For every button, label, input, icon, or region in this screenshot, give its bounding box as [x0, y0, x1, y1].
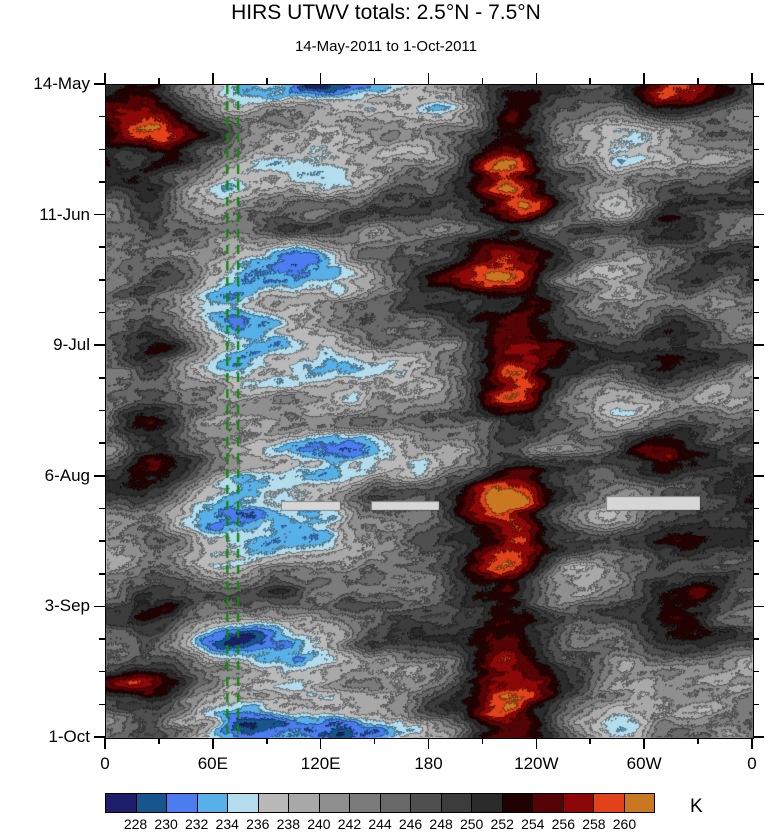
x-tick-minor-4 [589, 738, 591, 744]
page-title: HIRS UTWV totals: 2.5°N - 7.5°N [0, 0, 772, 26]
colorbar-swatch-17 [625, 794, 655, 812]
x-tick-major-2 [320, 738, 322, 749]
y-tick-minor-right-6 [753, 377, 759, 379]
y-tick-major-3 [94, 475, 105, 477]
page-subtitle: 14-May-2011 to 1-Oct-2011 [0, 38, 772, 56]
y-tick-minor-right-11 [753, 573, 759, 575]
colorbar-swatch-0 [106, 794, 137, 812]
colorbar-swatch-7 [320, 794, 351, 812]
colorbar-swatch-9 [381, 794, 412, 812]
y-tick-minor-13 [99, 671, 105, 673]
colorbar-swatch-8 [350, 794, 381, 812]
y-tick-minor-right-7 [753, 410, 759, 412]
x-tick-minor-3 [482, 738, 484, 744]
x-tick-major-6 [751, 738, 753, 749]
y-tick-major-right-1 [753, 214, 764, 216]
x-tick-label-2: 120E [276, 754, 366, 773]
x-tick-major-top-5 [643, 73, 645, 84]
y-tick-label-2: 9-Jul [4, 335, 90, 354]
y-tick-minor-11 [99, 573, 105, 575]
colorbar-swatch-15 [564, 794, 595, 812]
y-tick-minor-right-9 [753, 508, 759, 510]
y-tick-major-0 [94, 83, 105, 85]
x-tick-major-0 [104, 738, 106, 749]
y-tick-major-4 [94, 606, 105, 608]
colorbar-swatch-5 [259, 794, 290, 812]
y-tick-minor-2 [99, 181, 105, 183]
colorbar-swatch-16 [594, 794, 625, 812]
y-tick-minor-right-13 [753, 671, 759, 673]
colorbar-unit-label: K [690, 796, 703, 818]
y-tick-minor-right-5 [753, 312, 759, 314]
x-tick-major-top-2 [320, 73, 322, 84]
y-tick-minor-7 [99, 410, 105, 412]
y-tick-minor-right-12 [753, 638, 759, 640]
y-tick-minor-10 [99, 540, 105, 542]
y-tick-label-0: 14-May [4, 74, 90, 93]
x-tick-label-0: 0 [60, 754, 150, 773]
y-tick-minor-5 [99, 312, 105, 314]
y-tick-major-2 [94, 344, 105, 346]
colorbar-swatch-3 [198, 794, 229, 812]
y-tick-label-3: 6-Aug [4, 466, 90, 485]
y-tick-minor-right-0 [753, 116, 759, 118]
y-tick-label-1: 11-Jun [4, 205, 90, 224]
y-tick-minor-8 [99, 442, 105, 444]
x-tick-major-5 [643, 738, 645, 749]
y-tick-minor-right-3 [753, 246, 759, 248]
hovmoller-field-canvas [106, 85, 753, 738]
x-tick-minor-0 [158, 738, 160, 744]
colorbar-swatch-2 [167, 794, 198, 812]
y-tick-minor-0 [99, 116, 105, 118]
colorbar-swatch-14 [533, 794, 564, 812]
x-tick-minor-top-3 [482, 78, 484, 84]
y-tick-major-right-0 [753, 83, 764, 85]
x-tick-label-5: 60W [599, 754, 689, 773]
y-tick-major-right-4 [753, 606, 764, 608]
colorbar-swatch-6 [289, 794, 320, 812]
x-tick-major-top-1 [212, 73, 214, 84]
colorbar-swatch-1 [137, 794, 168, 812]
y-tick-minor-right-2 [753, 181, 759, 183]
y-tick-major-5 [94, 736, 105, 738]
x-tick-minor-2 [374, 738, 376, 744]
y-tick-major-right-2 [753, 344, 764, 346]
colorbar-swatch-11 [442, 794, 473, 812]
colorbar-swatch-13 [503, 794, 534, 812]
x-tick-major-1 [212, 738, 214, 749]
hovmoller-plot-area [105, 84, 754, 739]
y-tick-minor-9 [99, 508, 105, 510]
y-tick-major-1 [94, 214, 105, 216]
y-tick-label-5: 1-Oct [4, 727, 90, 746]
y-tick-minor-right-1 [753, 149, 759, 151]
y-tick-minor-right-8 [753, 442, 759, 444]
y-tick-minor-right-14 [753, 704, 759, 706]
y-tick-major-right-5 [753, 736, 764, 738]
x-tick-minor-1 [266, 738, 268, 744]
colorbar [105, 793, 655, 813]
colorbar-swatch-4 [228, 794, 259, 812]
colorbar-swatch-12 [472, 794, 503, 812]
x-tick-minor-5 [697, 738, 699, 744]
x-tick-minor-top-5 [697, 78, 699, 84]
x-tick-major-3 [428, 738, 430, 749]
x-tick-minor-top-2 [374, 78, 376, 84]
y-tick-minor-14 [99, 704, 105, 706]
x-tick-label-4: 120W [491, 754, 581, 773]
y-tick-minor-12 [99, 638, 105, 640]
x-tick-minor-top-1 [266, 78, 268, 84]
y-tick-minor-right-10 [753, 540, 759, 542]
y-tick-label-4: 3-Sep [4, 596, 90, 615]
x-tick-major-4 [536, 738, 538, 749]
x-tick-major-top-4 [536, 73, 538, 84]
y-tick-minor-3 [99, 246, 105, 248]
x-tick-label-3: 180 [384, 754, 474, 773]
y-tick-minor-right-4 [753, 279, 759, 281]
colorbar-tick-label-16: 260 [602, 816, 646, 832]
x-tick-label-1: 60E [168, 754, 258, 773]
x-tick-label-6: 0 [707, 754, 772, 773]
y-tick-major-right-3 [753, 475, 764, 477]
colorbar-swatch-10 [411, 794, 442, 812]
x-tick-minor-top-4 [589, 78, 591, 84]
x-tick-major-top-3 [428, 73, 430, 84]
y-tick-minor-1 [99, 149, 105, 151]
x-tick-minor-top-0 [158, 78, 160, 84]
y-tick-minor-6 [99, 377, 105, 379]
y-tick-minor-4 [99, 279, 105, 281]
